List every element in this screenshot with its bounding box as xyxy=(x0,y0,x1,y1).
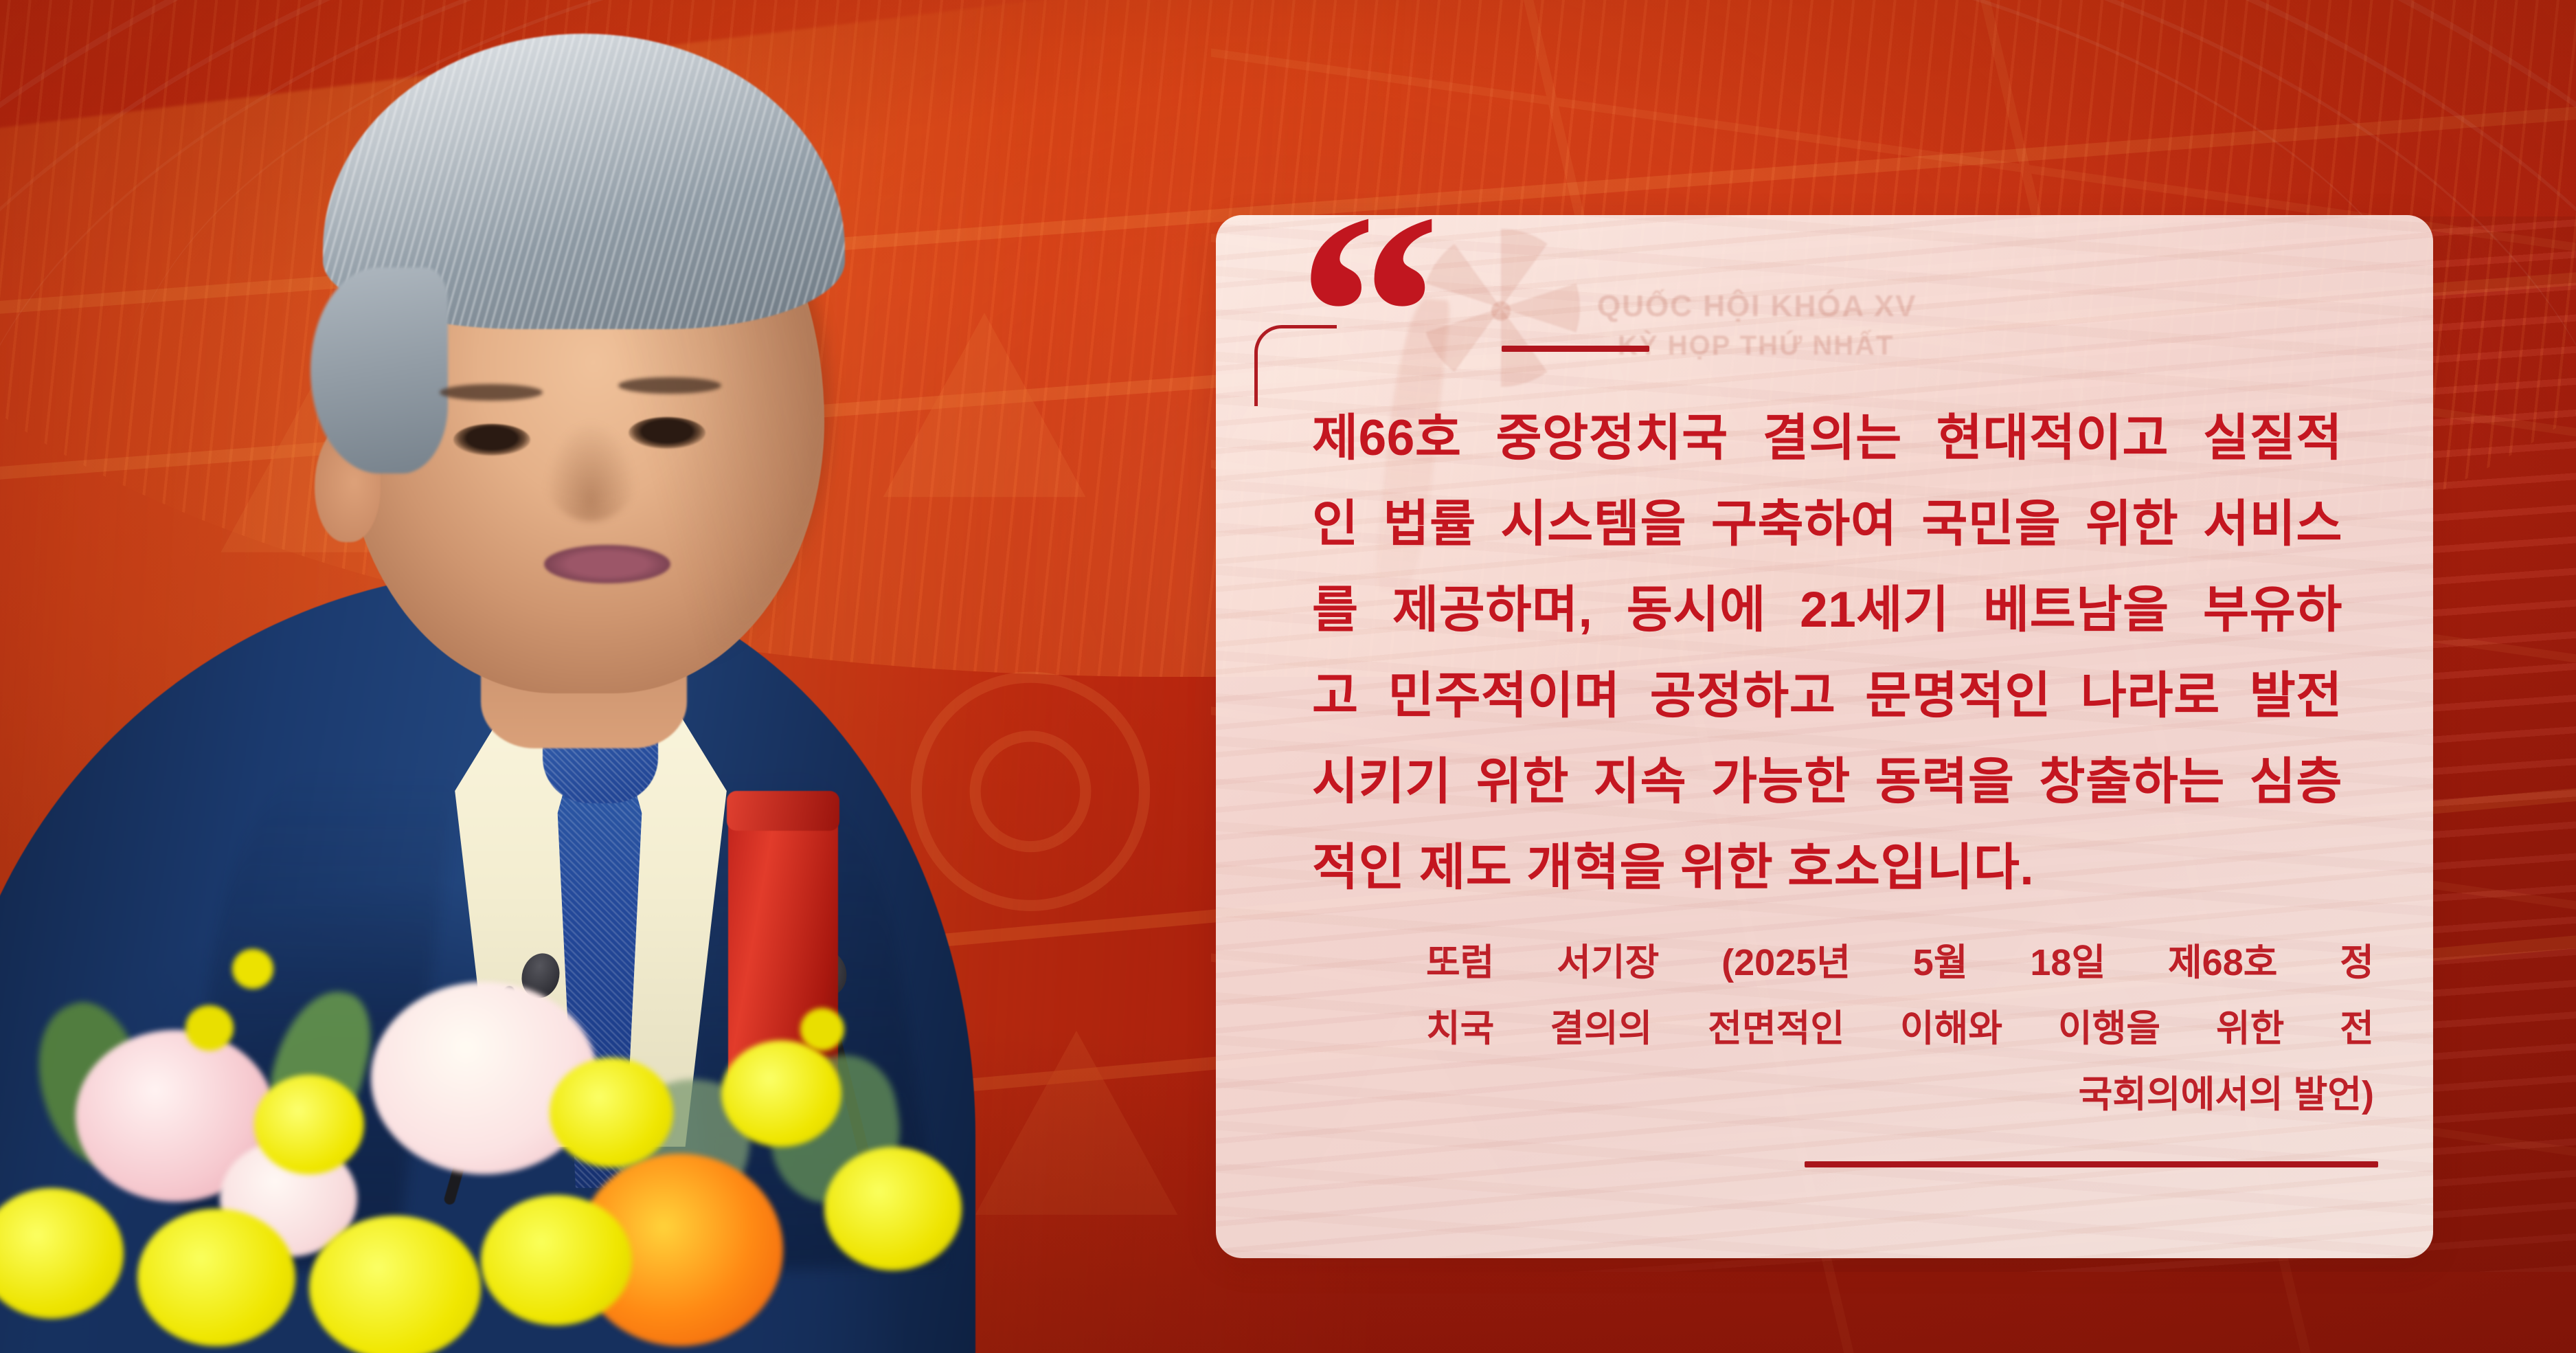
quote-word: 법률 xyxy=(1383,481,1476,567)
yellow-flower xyxy=(550,1058,673,1167)
quote-word: 창출하는 xyxy=(2039,739,2225,825)
quote-word: 시스템을 xyxy=(1500,481,1686,567)
eyebrow-left xyxy=(440,384,543,401)
flower-vase-rim xyxy=(727,791,839,831)
quote-word: 동력을 xyxy=(1875,739,2015,825)
attribution-line: 치국 결의의 전면적인 이해와 이행을 위한 전 xyxy=(1426,996,2374,1062)
quote-word: 동시에 xyxy=(1627,567,1766,653)
attribution-word: 이행을 xyxy=(2058,996,2160,1062)
quote-line: 적인 제도 개혁을 위한 호소입니다. xyxy=(1312,825,2342,910)
yellow-flower xyxy=(721,1040,841,1147)
quote-line: 시키기 위한 지속 가능한 동력을 창출하는 심층 xyxy=(1312,739,2342,825)
attribution-word: 위한 xyxy=(2216,996,2284,1062)
quote-attribution: 또럼 서기장 (2025년 5월 18일 제68호 정 치국 결의의 전면적인 … xyxy=(1426,930,2374,1128)
quote-word: 21세기 xyxy=(1800,567,1950,653)
quote-word: 나라로 xyxy=(2081,653,2220,739)
attribution-word: 치국 xyxy=(1426,996,1494,1062)
attribution-word: 5월 xyxy=(1913,930,1968,996)
yellow-bud xyxy=(232,949,273,989)
sideburn xyxy=(310,267,448,473)
quote-line: 제66호 중앙정치국 결의는 현대적이고 실질적 xyxy=(1312,395,2342,481)
speaker-portrait xyxy=(0,0,1202,1353)
attribution-word: (2025년 xyxy=(1721,930,1851,996)
flower-bouquet xyxy=(0,948,1030,1353)
quote-word: 공정하고 xyxy=(1650,653,1836,739)
quote-word: 위한 xyxy=(2086,481,2178,567)
yellow-bud xyxy=(185,1005,234,1051)
yellow-flower xyxy=(0,1188,124,1319)
quote-word: 가능한 xyxy=(1711,739,1851,825)
attribution-word: 결의의 xyxy=(1550,996,1652,1062)
quote-line: 고 민주적이며 공정하고 문명적인 나라로 발전 xyxy=(1312,653,2342,739)
quote-word: 실질적 xyxy=(2203,395,2342,481)
eye-right xyxy=(629,417,705,449)
quote-word: 적인 제도 개혁을 위한 호소입니다. xyxy=(1312,825,2034,910)
quote-word: 를 xyxy=(1312,567,1359,653)
eyebrow-right xyxy=(618,377,721,394)
quote-word: 국민을 xyxy=(1921,481,2061,567)
quote-word: 시키기 xyxy=(1312,739,1451,825)
quote-word: 발전 xyxy=(2250,653,2342,739)
quote-line: 인 법률 시스템을 구축하여 국민을 위한 서비스 xyxy=(1312,481,2342,567)
quote-word: 현대적이고 xyxy=(1936,395,2169,481)
quote-word: 위한 xyxy=(1476,739,1569,825)
quote-word: 민주적이며 xyxy=(1388,653,1620,739)
quote-word: 인 xyxy=(1312,481,1359,567)
top-rule-decoration xyxy=(1502,346,1649,352)
attribution-line: 또럼 서기장 (2025년 5월 18일 제68호 정 xyxy=(1426,930,2374,996)
quote-word: 중앙정치국 xyxy=(1496,395,1728,481)
quote-word: 지속 xyxy=(1594,739,1686,825)
attribution-word: 정 xyxy=(2340,930,2374,996)
attribution-word: 또럼 xyxy=(1426,930,1494,996)
poster-canvas: QUỐC HỘI KHÓA XV KỲ HỌP THỨ NHẤT “ 제66호 … xyxy=(0,0,2576,1353)
quote-card: QUỐC HỘI KHÓA XV KỲ HỌP THỨ NHẤT “ 제66호 … xyxy=(1216,215,2433,1258)
quote-line: 를 제공하며, 동시에 21세기 베트남을 부유하 xyxy=(1312,567,2342,653)
quote-word: 결의는 xyxy=(1763,395,1902,481)
attribution-word: 이해와 xyxy=(1900,996,2002,1062)
attribution-word: 전 xyxy=(2340,996,2374,1062)
quote-word: 서비스 xyxy=(2203,481,2342,567)
mouth xyxy=(544,545,670,583)
yellow-flower xyxy=(481,1195,632,1326)
eye-left xyxy=(453,424,530,456)
quote-word: 제공하며, xyxy=(1392,567,1592,653)
quote-word: 베트남을 xyxy=(1983,567,2169,653)
attribution-word: 제68호 xyxy=(2168,930,2277,996)
bottom-rule-decoration xyxy=(1805,1161,2378,1167)
yellow-flower xyxy=(254,1075,364,1174)
attribution-word: 국회의에서의 발언) xyxy=(2079,1062,2374,1128)
quote-word: 문명적인 xyxy=(1865,653,2051,739)
attribution-word: 서기장 xyxy=(1557,930,1659,996)
quote-word: 심층 xyxy=(2250,739,2342,825)
attribution-word: 전면적인 xyxy=(1708,996,1844,1062)
quote-word: 부유하 xyxy=(2203,567,2342,653)
quote-card-content: “ 제66호 중앙정치국 결의는 현대적이고 실질적 인 법률 시스템을 구축하… xyxy=(1216,215,2433,1258)
yellow-bud xyxy=(800,1008,844,1051)
attribution-line: 국회의에서의 발언) xyxy=(1426,1062,2374,1128)
yellow-flower xyxy=(824,1147,962,1271)
quote-word: 구축하여 xyxy=(1711,481,1897,567)
quote-word: 고 xyxy=(1312,653,1359,739)
attribution-word: 18일 xyxy=(2030,930,2105,996)
nose xyxy=(543,418,639,522)
quote-text: 제66호 중앙정치국 결의는 현대적이고 실질적 인 법률 시스템을 구축하여 … xyxy=(1312,395,2342,910)
yellow-flower xyxy=(137,1209,295,1346)
quote-word: 제66호 xyxy=(1312,395,1462,481)
yellow-flower xyxy=(309,1216,481,1353)
